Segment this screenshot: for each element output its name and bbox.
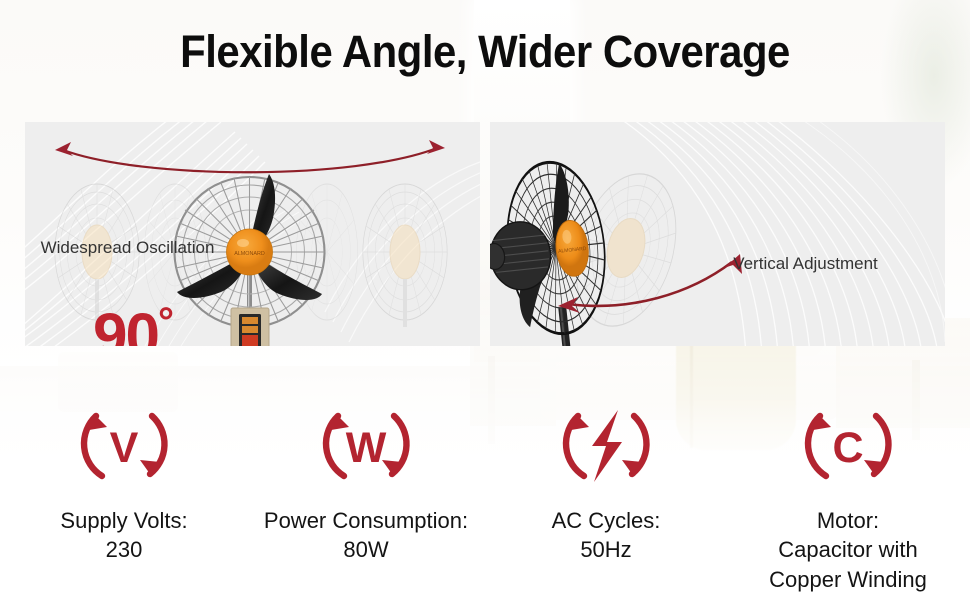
capacitor-circular-arrow-icon: C: [727, 392, 969, 500]
spec-label: AC Cycles: 50Hz: [485, 506, 727, 565]
fan-control-box: [231, 308, 269, 346]
spec-label: Power Consumption: 80W: [245, 506, 487, 565]
fan-side-tilt-illustration: ALMONARD: [490, 122, 945, 346]
oscillation-angle-value: 90: [93, 302, 158, 346]
watt-circular-arrow-icon: W: [245, 392, 487, 500]
spec-supply-volts: V Supply Volts: 230: [3, 392, 245, 565]
spec-motor: C Motor: Capacitor with Copper Winding: [727, 392, 969, 594]
capacitor-glyph: C: [832, 424, 863, 472]
oscillation-caption: Widespread Oscillation: [40, 236, 215, 259]
watt-glyph: W: [346, 424, 387, 472]
oscillation-arrow-left: [55, 142, 73, 156]
bolt-glyph: [592, 410, 622, 482]
ghost-fan-right: [363, 184, 447, 327]
svg-text:ALMONARD: ALMONARD: [234, 251, 265, 257]
panel-vertical-adjustment: ALMONARD 22°to45°: [490, 122, 945, 346]
spec-label: Supply Volts: 230: [3, 506, 245, 565]
infographic-canvas: Flexible Angle, Wider Coverage: [0, 0, 970, 600]
fan-motor-housing: [490, 219, 554, 294]
oscillation-arrow-right: [427, 140, 445, 154]
spec-ac-cycles: AC Cycles: 50Hz: [485, 392, 727, 565]
page-title: Flexible Angle, Wider Coverage: [34, 26, 936, 78]
spec-power-consumption: W Power Consumption: 80W: [245, 392, 487, 565]
lightning-bolt-circular-arrow-icon: [485, 392, 727, 500]
specification-row: V Supply Volts: 230 W Power Consumption:…: [0, 392, 970, 600]
vertical-adjustment-caption: Vertical Adjustment: [718, 252, 893, 275]
volt-glyph: V: [110, 424, 139, 472]
oscillation-arc-arrow: [63, 148, 437, 172]
degree-symbol: °: [158, 300, 173, 344]
spec-label: Motor: Capacitor with Copper Winding: [727, 506, 969, 594]
volt-circular-arrow-icon: V: [3, 392, 245, 500]
oscillation-angle-figure: 90°: [93, 302, 173, 346]
fan-front-main: ALMONARD: [175, 174, 325, 346]
panel-widespread-oscillation: ALMONARD 90°: [25, 122, 480, 346]
